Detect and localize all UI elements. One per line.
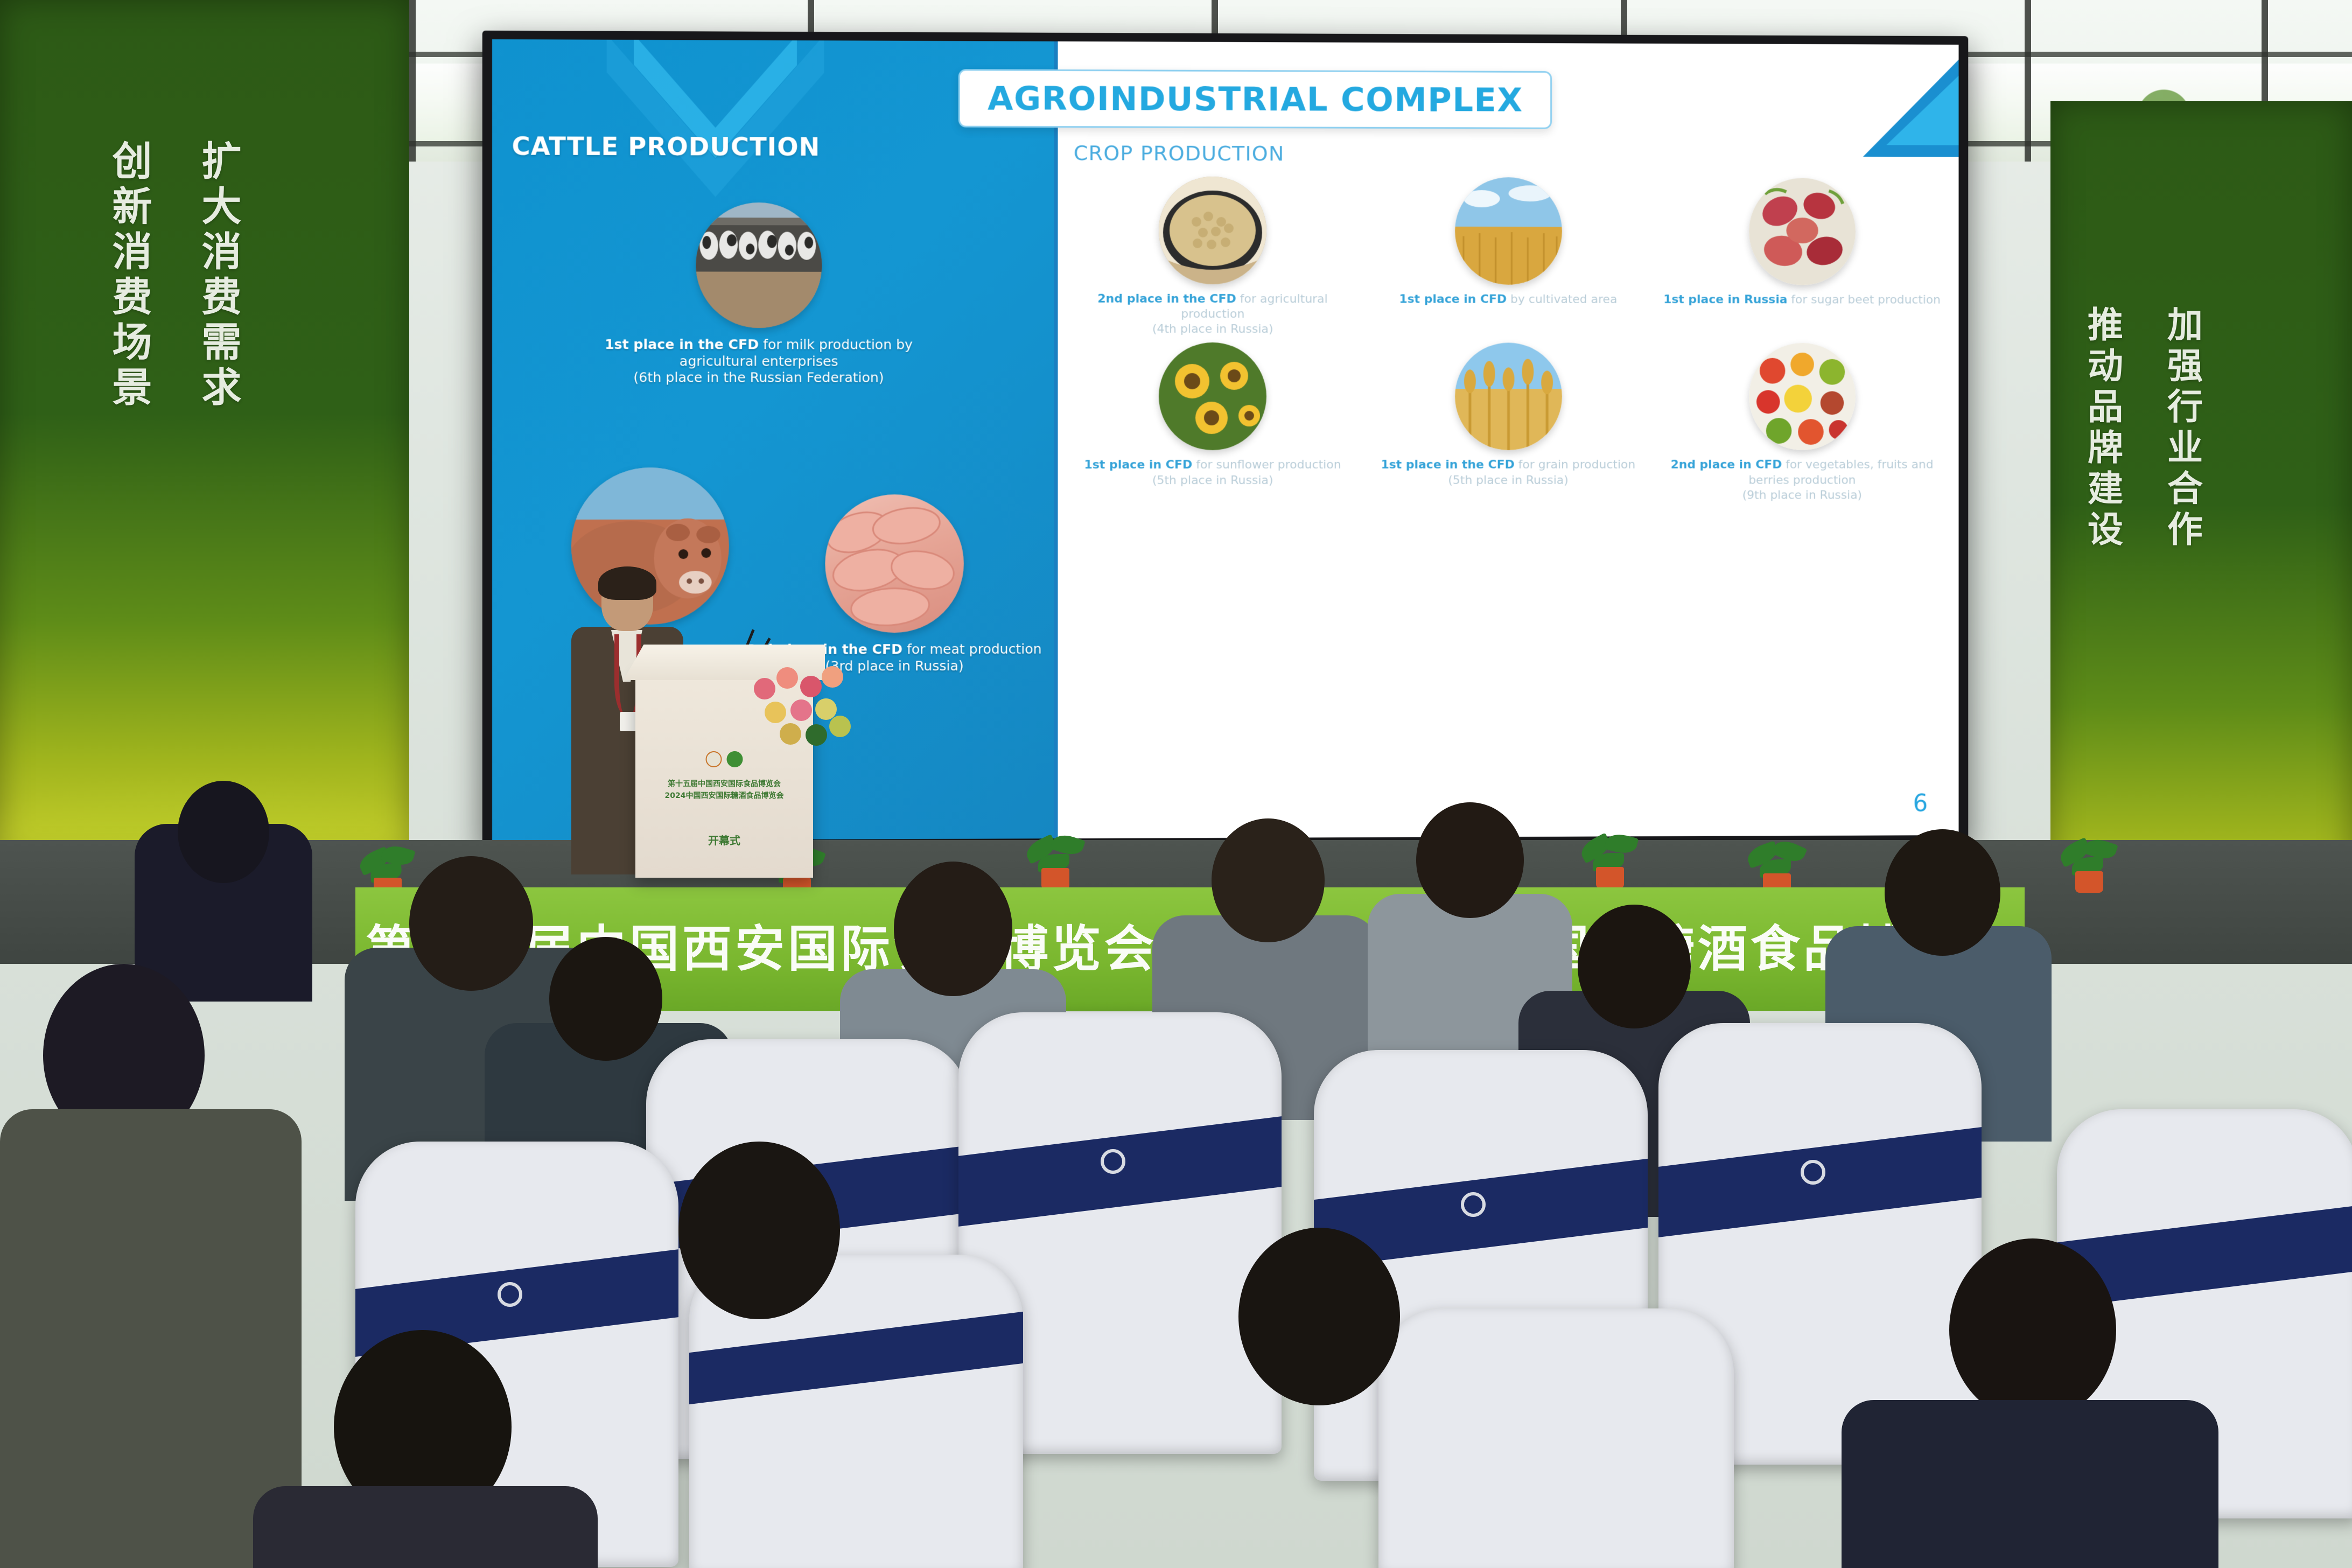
potted-plant (2057, 834, 2122, 893)
crop-production-grid: 2nd place in the CFD for agricultural pr… (1068, 176, 1945, 503)
slide-right-panel: CROP PRODUCTION (1054, 41, 1959, 838)
audience-head (894, 862, 1012, 996)
audience-person (0, 1109, 302, 1568)
slide-page-number: 6 (1913, 790, 1928, 817)
podium-line-1: 第十五届中国西安国际食品博览会 (668, 778, 781, 789)
crop-caption: 1st place in the CFD for grain productio… (1381, 458, 1635, 488)
crop-production-heading: CROP PRODUCTION (1074, 141, 1285, 165)
crop-caption-sub: (4th place in Russia) (1068, 322, 1357, 338)
crop-caption-sub: (9th place in Russia) (1659, 488, 1945, 503)
podium-line-2: 2024中国西安国际糖酒食品博览会 (665, 790, 784, 801)
crop-caption: 1st place in CFD for sunflower productio… (1084, 458, 1341, 488)
left-banner-slogan-2: 扩大消费需求 (190, 140, 247, 411)
crop-caption: 2nd place in CFD for vegetables, fruits … (1659, 458, 1945, 503)
audience-head (1949, 1238, 2116, 1422)
audience-head (1212, 818, 1325, 942)
chair-sash (689, 1312, 1023, 1404)
audience-head (178, 781, 269, 883)
crop-caption-sub: (5th place in Russia) (1084, 473, 1341, 488)
flower-arrangement (748, 660, 862, 762)
grain-bowl-photo (1159, 177, 1266, 284)
wheat-field-photo (1455, 177, 1562, 285)
crop-caption-bold: 2nd place in CFD (1671, 458, 1782, 472)
chair-sash-ring (1801, 1160, 1825, 1185)
sugar-beet-photo (1749, 178, 1856, 285)
right-green-banner: 推动品牌建设 加强行业合作 (2050, 101, 2352, 941)
event-logo-1 (706, 751, 722, 767)
crop-caption-rest: for grain production (1515, 458, 1635, 472)
slide-title-pill: AGROINDUSTRIAL COMPLEX (958, 69, 1552, 129)
crop-caption-rest: for sugar beet production (1787, 293, 1940, 306)
cattle-production-heading: CATTLE PRODUCTION (512, 131, 820, 162)
crop-cell: 1st place in the CFD for grain productio… (1364, 343, 1651, 503)
right-banner-slogan-2: 加强行业合作 (2156, 306, 2208, 551)
audience-head (1238, 1228, 1400, 1405)
crop-cell: 2nd place in CFD for vegetables, fruits … (1659, 343, 1945, 503)
speaker-hair (598, 566, 656, 600)
event-logo-2 (727, 751, 743, 767)
audience-person (253, 1486, 598, 1568)
crop-caption: 1st place in Russia for sugar beet produ… (1663, 292, 1941, 308)
right-banner-slogan-1: 推动品牌建设 (2076, 306, 2128, 551)
potted-plant (1023, 830, 1088, 890)
podium-logos (706, 751, 743, 767)
crop-caption-sub (1663, 307, 1941, 308)
crop-caption-bold: 1st place in the CFD (1381, 458, 1514, 472)
left-banner-slogan-1: 创新消费场景 (100, 140, 158, 411)
audience-head (549, 937, 662, 1061)
crop-cell: 1st place in Russia for sugar beet produ… (1659, 178, 1945, 338)
window-mullion (409, 0, 416, 162)
potted-plant (1578, 829, 1642, 888)
audience-head (678, 1142, 840, 1319)
cattle-item-milk: 1st place in the CFD for milk production… (590, 202, 927, 386)
cattle-caption-rest: for meat production (902, 641, 1041, 657)
sunflower-photo (1159, 342, 1266, 450)
audience-head (1416, 802, 1524, 918)
crop-caption-rest: by cultivated area (1507, 293, 1617, 306)
crop-cell: 1st place in CFD for sunflower productio… (1068, 342, 1357, 503)
chevron-decoration-right (1831, 44, 1959, 167)
audience-head (1578, 905, 1691, 1028)
wheat-ears-photo (1455, 343, 1562, 451)
audience-person (1842, 1400, 2218, 1568)
pork-meat-photo (825, 494, 964, 633)
conference-hall-scene: 创新消费场景 扩大消费需求 推动品牌建设 加强行业合作 CATTLE PRODU… (0, 0, 2352, 1568)
slide-title: AGROINDUSTRIAL COMPLEX (988, 79, 1523, 119)
crop-caption: 1st place in CFD by cultivated area (1399, 292, 1617, 307)
crop-cell: 1st place in CFD by cultivated area (1364, 177, 1651, 338)
chair-sash-ring (1101, 1149, 1125, 1174)
cattle-caption-sub: (6th place in the Russian Federation) (590, 369, 927, 386)
dairy-cows-photo (696, 202, 822, 328)
podium-line-3: 开幕式 (708, 832, 740, 848)
crop-caption: 2nd place in the CFD for agricultural pr… (1068, 292, 1357, 338)
crop-caption-bold: 1st place in CFD (1399, 292, 1507, 306)
chair-sash-ring (1461, 1192, 1486, 1217)
left-green-banner: 创新消费场景 扩大消费需求 (0, 0, 409, 862)
crop-caption-bold: 1st place in CFD (1084, 458, 1192, 472)
fruits-vegetables-photo (1749, 343, 1856, 450)
panel-divider-rail (1054, 41, 1058, 838)
audience-head (1885, 829, 2000, 956)
crop-caption-bold: 1st place in Russia (1663, 293, 1787, 306)
window-mullion (2025, 0, 2031, 162)
crop-caption-sub: (5th place in Russia) (1381, 473, 1635, 488)
audience-head (409, 856, 533, 991)
potted-plant (1745, 836, 1809, 895)
chevron-decoration-left (590, 39, 840, 214)
crop-cell: 2nd place in the CFD for agricultural pr… (1068, 176, 1357, 337)
crop-caption-bold: 2nd place in the CFD (1097, 292, 1236, 306)
cattle-caption-milk: 1st place in the CFD for milk production… (590, 337, 927, 386)
audience-chair (1378, 1308, 1734, 1568)
chair-sash-ring (498, 1282, 522, 1307)
crop-caption-rest: for sunflower production (1192, 458, 1341, 472)
cattle-caption-bold: 1st place in the CFD (605, 337, 759, 352)
